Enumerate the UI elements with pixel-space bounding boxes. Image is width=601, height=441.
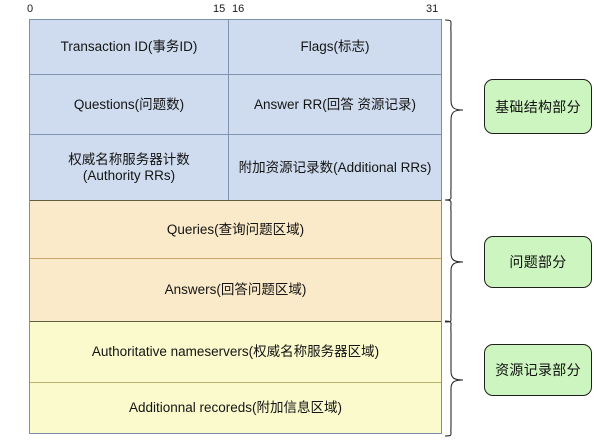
legend-resource-record-part[interactable]: 资源记录部分 <box>484 344 592 396</box>
ruler-tick-31: 31 <box>426 3 438 15</box>
dns-message-format-diagram: 0 15 16 31 Transaction ID(事务ID) Flags(标志… <box>0 0 601 441</box>
table-row: Additionnal recoreds(附加信息区域) <box>30 382 441 433</box>
packet-structure-table: Transaction ID(事务ID) Flags(标志) Questions… <box>29 19 442 434</box>
field-authority-rrs: 权威名称服务器计数 (Authority RRs) <box>30 134 229 200</box>
table-row: Transaction ID(事务ID) Flags(标志) <box>30 20 441 74</box>
field-additional-records: Additionnal recoreds(附加信息区域) <box>30 382 441 433</box>
brace-question-part <box>443 196 471 325</box>
table-row: 权威名称服务器计数 (Authority RRs) 附加资源记录数(Additi… <box>30 134 441 200</box>
table-row: Queries(查询问题区域) <box>30 200 441 258</box>
brace-basic-structure <box>443 16 471 204</box>
legend-question-part[interactable]: 问题部分 <box>484 236 592 288</box>
legend-basic-structure[interactable]: 基础结构部分 <box>484 79 592 134</box>
field-flags: Flags(标志) <box>229 20 441 74</box>
ruler-tick-16: 16 <box>232 3 244 15</box>
field-answer-rr: Answer RR(回答 资源记录) <box>229 74 441 134</box>
table-row: Answers(回答问题区域) <box>30 258 441 321</box>
ruler-tick-0: 0 <box>27 3 33 15</box>
field-authoritative-nameservers: Authoritative nameservers(权威名称服务器区域) <box>30 321 441 382</box>
field-queries: Queries(查询问题区域) <box>30 200 441 258</box>
field-transaction-id: Transaction ID(事务ID) <box>30 20 229 74</box>
table-row: Authoritative nameservers(权威名称服务器区域) <box>30 321 441 382</box>
field-questions: Questions(问题数) <box>30 74 229 134</box>
field-answers: Answers(回答问题区域) <box>30 258 441 321</box>
brace-resource-record-part <box>443 317 471 439</box>
field-additional-rrs: 附加资源记录数(Additional RRs) <box>229 134 441 200</box>
ruler-tick-15: 15 <box>213 3 225 15</box>
table-row: Questions(问题数) Answer RR(回答 资源记录) <box>30 74 441 134</box>
